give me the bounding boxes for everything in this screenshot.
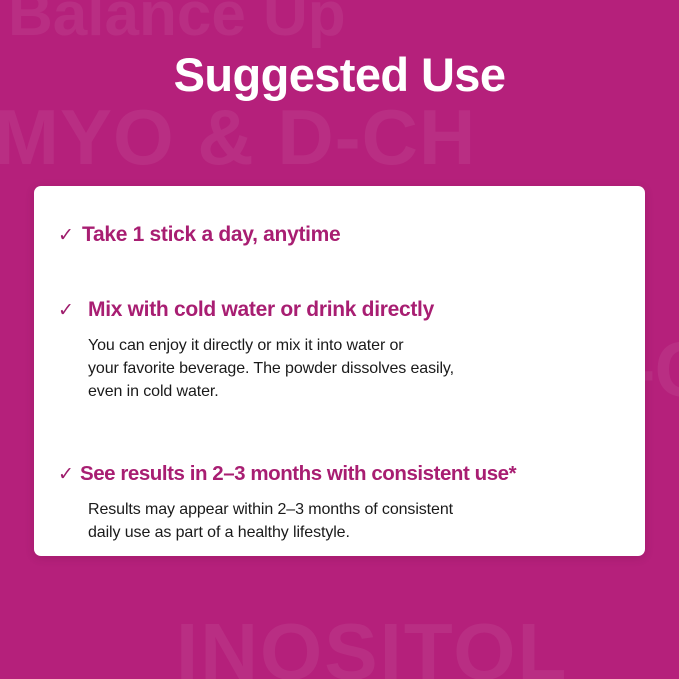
watermark-text-balance-up: Balance Up [8,0,346,46]
list-item-body: Results may appear within 2–3 months of … [88,499,623,544]
suggested-use-panel: Balance Up MYO & D-CH INOSITOL & D-CHI I… [0,0,679,679]
watermark-text-myo-dch: MYO & D-CH [0,98,476,176]
list-item: ✓ Mix with cold water or drink directly … [58,297,623,403]
list-item: ✓ Take 1 stick a day, anytime [58,222,623,247]
list-item-heading-row: ✓ Take 1 stick a day, anytime [58,222,623,247]
list-item-body: You can enjoy it directly or mix it into… [88,335,623,403]
list-item-heading: Mix with cold water or drink directly [78,297,434,322]
body-line: Results may appear within 2–3 months of … [88,499,623,522]
list-item-heading-row: ✓ See results in 2–3 months with consist… [58,462,623,487]
body-line: even in cold water. [88,381,623,404]
body-line: daily use as part of a healthy lifestyle… [88,522,623,545]
watermark-text-inositol: INOSITOL [176,612,568,679]
check-icon: ✓ [58,226,78,245]
list-item-heading: See results in 2–3 months with consisten… [78,462,516,487]
list-item-heading-row: ✓ Mix with cold water or drink directly [58,297,623,322]
check-icon: ✓ [58,301,78,320]
page-title: Suggested Use [0,49,679,101]
list-item: ✓ See results in 2–3 months with consist… [58,462,623,545]
body-line: You can enjoy it directly or mix it into… [88,335,623,358]
check-icon: ✓ [58,465,78,484]
list-item-heading: Take 1 stick a day, anytime [78,222,340,247]
card-content: ✓ Take 1 stick a day, anytime ✓ Mix with… [34,186,645,556]
suggested-use-card: ✓ Take 1 stick a day, anytime ✓ Mix with… [34,186,645,556]
body-line: your favorite beverage. The powder disso… [88,358,623,381]
